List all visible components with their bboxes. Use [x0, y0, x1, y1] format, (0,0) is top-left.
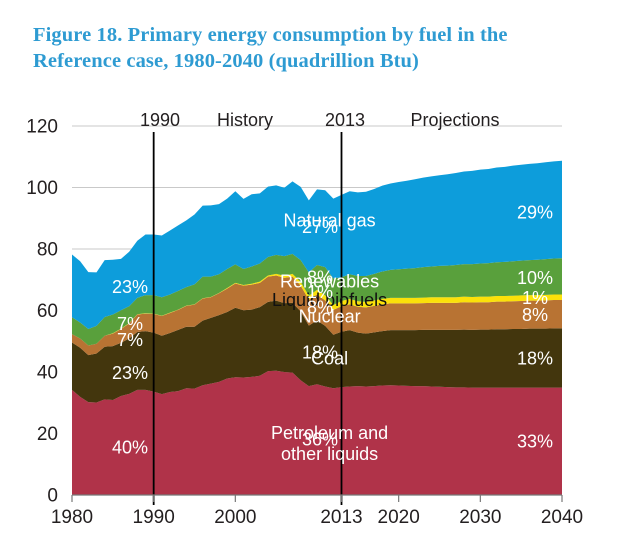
figure-container: Figure 18. Primary energy consumption by… [0, 0, 623, 553]
pct-natural-gas-1980: 23% [112, 277, 148, 297]
y-tick-label-80: 80 [37, 240, 58, 261]
figure-title-line-1: Figure 18. Primary energy consumption by… [33, 22, 593, 48]
y-tick-label-0: 0 [47, 486, 58, 507]
chart-area: 020406080100120 198019902000201320202030… [0, 100, 623, 553]
figure-title: Figure 18. Primary energy consumption by… [33, 22, 593, 74]
y-tick-label-120: 120 [26, 117, 58, 138]
y-tick-label-40: 40 [37, 363, 58, 384]
x-axis-tick-labels: 1980199020002013202020302040 [51, 507, 583, 528]
y-tick-label-100: 100 [26, 178, 58, 199]
x-tick-label-1990: 1990 [133, 507, 175, 528]
pct-liquid-biofuels-2040: 1% [522, 288, 548, 308]
pct-renewables-1980: 7% [117, 314, 143, 334]
pct-petroleum-and-other-liquids-2013: 36% [302, 430, 338, 450]
x-tick-label-2013: 2013 [320, 507, 362, 528]
pct-natural-gas-2040: 29% [517, 203, 553, 223]
pct-natural-gas-2013: 27% [302, 217, 338, 237]
stacked-area-chart: 020406080100120 198019902000201320202030… [0, 100, 623, 553]
figure-title-line-2: Reference case, 1980-2040 (quadrillion B… [33, 48, 593, 74]
x-tick-label-1980: 1980 [51, 507, 93, 528]
y-tick-label-20: 20 [37, 424, 58, 445]
pct-renewables-2040: 10% [517, 268, 553, 288]
projections-label: Projections [410, 110, 499, 130]
x-tick-label-2020: 2020 [378, 507, 420, 528]
y-tick-label-60: 60 [37, 301, 58, 322]
x-tick-label-2030: 2030 [459, 507, 501, 528]
pct-coal-1980: 23% [112, 363, 148, 383]
pct-coal-2040: 18% [517, 348, 553, 368]
pct-petroleum-and-other-liquids-2040: 33% [517, 431, 553, 451]
divider-label-2013: 2013 [325, 110, 365, 130]
x-tick-label-2040: 2040 [541, 507, 583, 528]
divider-label-1990: 1990 [140, 110, 180, 130]
x-tick-label-2000: 2000 [214, 507, 256, 528]
y-axis-tick-labels: 020406080100120 [26, 117, 58, 507]
history-label: History [217, 110, 273, 130]
pct-coal-2013: 18% [302, 342, 338, 362]
x-axis-ticks [72, 495, 562, 502]
pct-renewables-2013: 8% [307, 267, 333, 287]
pct-petroleum-and-other-liquids-1980: 40% [112, 437, 148, 457]
